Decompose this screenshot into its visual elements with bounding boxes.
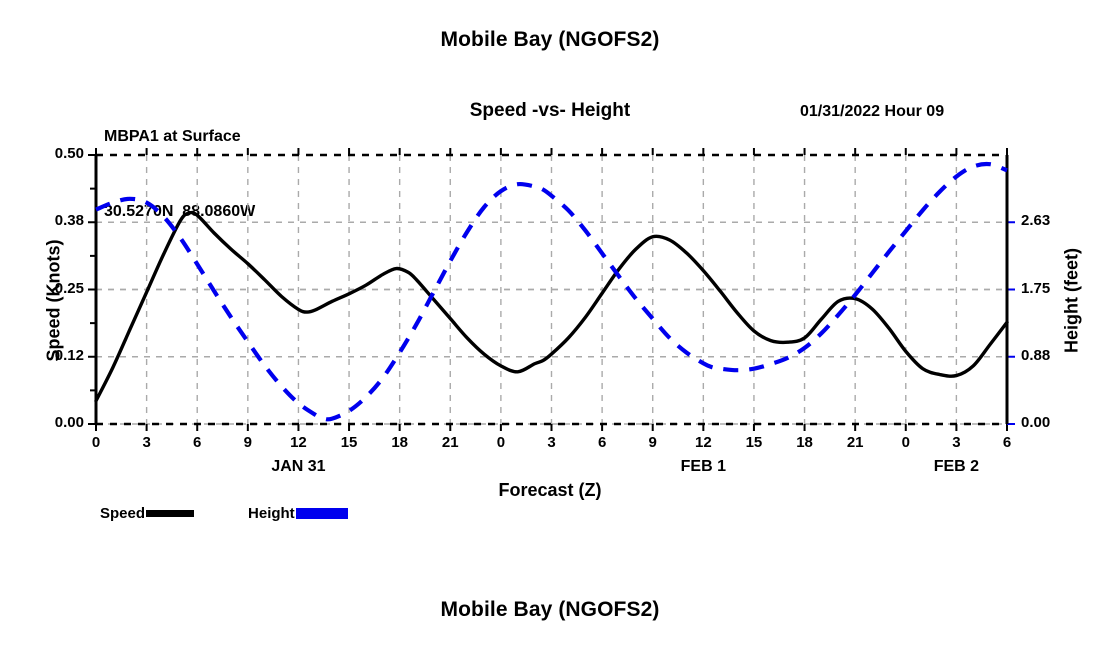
x-axis-day-label-1: FEB 1 <box>633 458 773 476</box>
x-axis-tick-13: 15 <box>734 434 774 451</box>
x-axis-tick-18: 6 <box>987 434 1027 451</box>
legend-label-speed: Speed <box>100 505 145 522</box>
legend-swatch-speed-icon <box>146 510 194 517</box>
x-axis-tick-5: 15 <box>329 434 369 451</box>
legend-item-height: Height <box>248 505 348 522</box>
y-axis-right-tick-0: 0.00 <box>1021 414 1083 431</box>
x-axis-tick-14: 18 <box>785 434 825 451</box>
x-axis-tick-0: 0 <box>76 434 116 451</box>
x-axis-tick-7: 21 <box>430 434 470 451</box>
legend-swatch-height-icon <box>296 508 348 519</box>
x-axis-tick-9: 3 <box>532 434 572 451</box>
y-axis-right-tick-2: 1.75 <box>1021 280 1083 297</box>
plot-area: Speed (Knots) Height (feet) Forecast (Z)… <box>0 0 1100 650</box>
x-axis-tick-6: 18 <box>380 434 420 451</box>
chart-svg <box>0 0 1100 650</box>
y-axis-left-tick-0: 0.00 <box>22 414 84 431</box>
chart-legend: Speed Height <box>100 505 348 522</box>
y-axis-right-tick-3: 2.63 <box>1021 212 1083 229</box>
legend-label-height: Height <box>248 505 295 522</box>
x-axis-tick-16: 0 <box>886 434 926 451</box>
y-axis-title-left: Speed (Knots) <box>44 201 65 401</box>
legend-item-speed: Speed <box>100 505 194 522</box>
x-axis-tick-10: 6 <box>582 434 622 451</box>
x-axis-day-label-0: JAN 31 <box>228 458 368 476</box>
x-axis-tick-1: 3 <box>127 434 167 451</box>
x-axis-tick-12: 12 <box>683 434 723 451</box>
x-axis-tick-8: 0 <box>481 434 521 451</box>
page-title-bottom: Mobile Bay (NGOFS2) <box>0 598 1100 622</box>
x-axis-tick-15: 21 <box>835 434 875 451</box>
x-axis-title: Forecast (Z) <box>350 480 750 501</box>
x-axis-tick-11: 9 <box>633 434 673 451</box>
x-axis-tick-3: 9 <box>228 434 268 451</box>
y-axis-left-tick-2: 0.25 <box>22 280 84 297</box>
y-axis-left-tick-1: 0.12 <box>22 347 84 364</box>
x-axis-tick-17: 3 <box>936 434 976 451</box>
y-axis-left-tick-3: 0.38 <box>22 212 84 229</box>
y-axis-left-tick-4: 0.50 <box>22 145 84 162</box>
chart-page: Mobile Bay (NGOFS2) MBPA1 at Surface 30.… <box>0 0 1100 650</box>
y-axis-title-right: Height (feet) <box>1062 201 1083 401</box>
x-axis-day-label-2: FEB 2 <box>886 458 1026 476</box>
x-axis-tick-2: 6 <box>177 434 217 451</box>
y-axis-right-tick-1: 0.88 <box>1021 347 1083 364</box>
x-axis-tick-4: 12 <box>278 434 318 451</box>
